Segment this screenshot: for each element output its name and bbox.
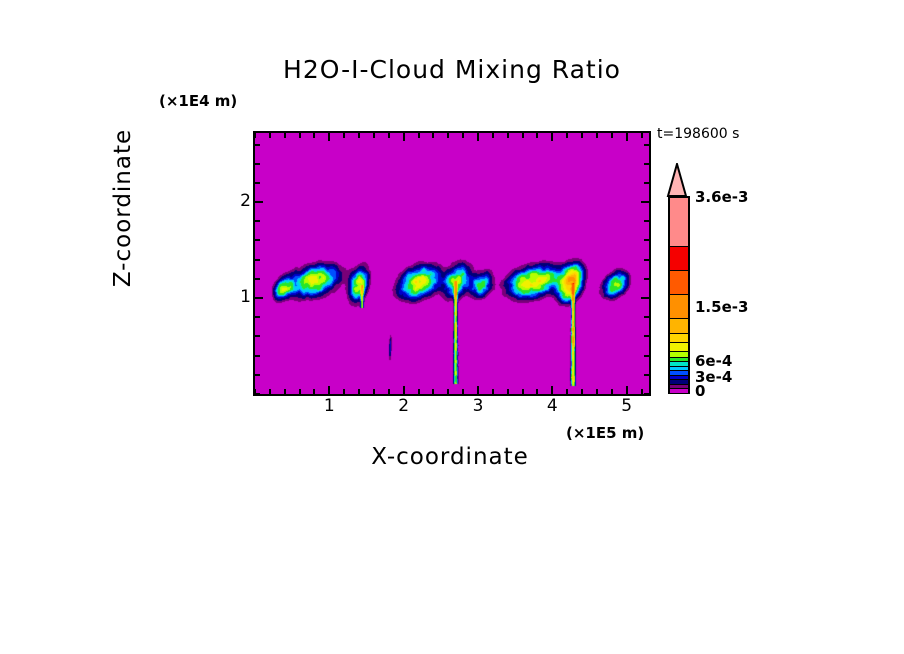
x-axis-tick (641, 389, 643, 394)
x-axis-tick-label: 3 (463, 396, 493, 416)
y-axis-title: Z-coordinate (110, 73, 136, 343)
y-axis-tick (255, 239, 260, 241)
colorbar (668, 196, 690, 394)
x-axis-tick (522, 389, 524, 394)
x-axis-tick (388, 133, 390, 138)
colorbar-tick-label: 0 (695, 382, 705, 400)
x-axis-tick (299, 133, 301, 138)
colorbar-segment (670, 294, 688, 319)
y-axis-tick-label: 2 (227, 191, 251, 211)
y-axis-tick (255, 144, 260, 146)
y-axis-tick (644, 163, 649, 165)
y-axis-tick (644, 144, 649, 146)
y-axis-tick (644, 220, 649, 222)
y-axis-tick (641, 297, 649, 299)
y-axis-tick (255, 374, 260, 376)
colorbar-tick-label: 1.5e-3 (695, 298, 748, 316)
x-axis-tick (507, 133, 509, 138)
x-axis-tick (284, 389, 286, 394)
y-axis-tick (644, 239, 649, 241)
colorbar-segment (670, 388, 688, 393)
plot-area (253, 131, 651, 396)
y-axis-tick (644, 278, 649, 280)
x-axis-tick (343, 389, 345, 394)
x-axis-tick (447, 133, 449, 138)
time-annotation: t=198600 s (657, 126, 739, 142)
x-axis-tick (477, 386, 479, 394)
x-axis-tick (313, 133, 315, 138)
x-axis-tick (418, 389, 420, 394)
x-axis-tick (373, 389, 375, 394)
x-axis-tick (403, 386, 405, 394)
y-axis-tick (644, 316, 649, 318)
y-axis-tick (644, 355, 649, 357)
x-axis-tick (373, 133, 375, 138)
x-axis-tick (284, 133, 286, 138)
x-axis-tick (447, 389, 449, 394)
x-axis-tick (641, 133, 643, 138)
x-axis-tick (477, 133, 479, 141)
y-axis-tick (644, 335, 649, 337)
x-axis-tick (507, 389, 509, 394)
y-axis-tick (255, 393, 260, 395)
x-axis-tick (254, 133, 256, 138)
x-axis-tick (596, 389, 598, 394)
x-axis-tick-label: 2 (389, 396, 419, 416)
y-axis-tick (644, 393, 649, 395)
x-axis-tick (551, 133, 553, 141)
x-axis-tick (313, 389, 315, 394)
x-axis-tick (611, 133, 613, 138)
x-axis-tick (269, 133, 271, 138)
x-axis-tick-label: 5 (612, 396, 642, 416)
y-axis-tick (255, 335, 260, 337)
y-axis-tick (255, 259, 260, 261)
x-axis-title: X-coordinate (253, 444, 647, 470)
y-axis-tick (255, 278, 260, 280)
colorbar-segment (670, 318, 688, 333)
x-axis-tick (536, 133, 538, 138)
y-axis-tick (255, 201, 263, 203)
colorbar-tick-label: 3.6e-3 (695, 188, 748, 206)
y-axis-tick (255, 355, 260, 357)
x-axis-tick (418, 133, 420, 138)
contour-plot-canvas (255, 133, 649, 394)
colorbar-over-arrow-icon (666, 163, 688, 197)
x-axis-tick (358, 133, 360, 138)
y-axis-tick (255, 297, 263, 299)
x-axis-tick (596, 133, 598, 138)
x-axis-tick-label: 1 (314, 396, 344, 416)
x-axis-tick (626, 133, 628, 141)
y-axis-tick (641, 201, 649, 203)
x-axis-unit-label: (×1E5 m) (566, 424, 644, 442)
y-axis-tick (255, 316, 260, 318)
x-axis-tick (358, 389, 360, 394)
x-axis-tick (581, 389, 583, 394)
x-axis-tick (626, 386, 628, 394)
y-axis-tick (644, 259, 649, 261)
y-axis-tick (644, 374, 649, 376)
colorbar-segment (670, 270, 688, 295)
x-axis-tick (566, 133, 568, 138)
x-axis-tick (328, 133, 330, 141)
x-axis-tick (432, 133, 434, 138)
x-axis-tick (328, 386, 330, 394)
x-axis-tick (551, 386, 553, 394)
x-axis-tick (581, 133, 583, 138)
colorbar-segment (670, 246, 688, 271)
x-axis-tick (492, 389, 494, 394)
x-axis-tick (462, 389, 464, 394)
x-axis-tick (462, 133, 464, 138)
y-axis-tick (255, 182, 260, 184)
x-axis-tick (388, 389, 390, 394)
y-axis-tick-label: 1 (227, 287, 251, 307)
colorbar-segment (670, 198, 688, 246)
x-axis-tick (566, 389, 568, 394)
x-axis-tick (522, 133, 524, 138)
y-axis-unit-label: (×1E4 m) (159, 92, 237, 110)
x-axis-tick (432, 389, 434, 394)
x-axis-tick (536, 389, 538, 394)
x-axis-tick (492, 133, 494, 138)
y-axis-tick (255, 163, 260, 165)
x-axis-tick-label: 4 (537, 396, 567, 416)
x-axis-tick (269, 389, 271, 394)
x-axis-tick (299, 389, 301, 394)
x-axis-tick (403, 133, 405, 141)
y-axis-tick (644, 182, 649, 184)
x-axis-tick (343, 133, 345, 138)
x-axis-tick (611, 389, 613, 394)
y-axis-tick (255, 220, 260, 222)
